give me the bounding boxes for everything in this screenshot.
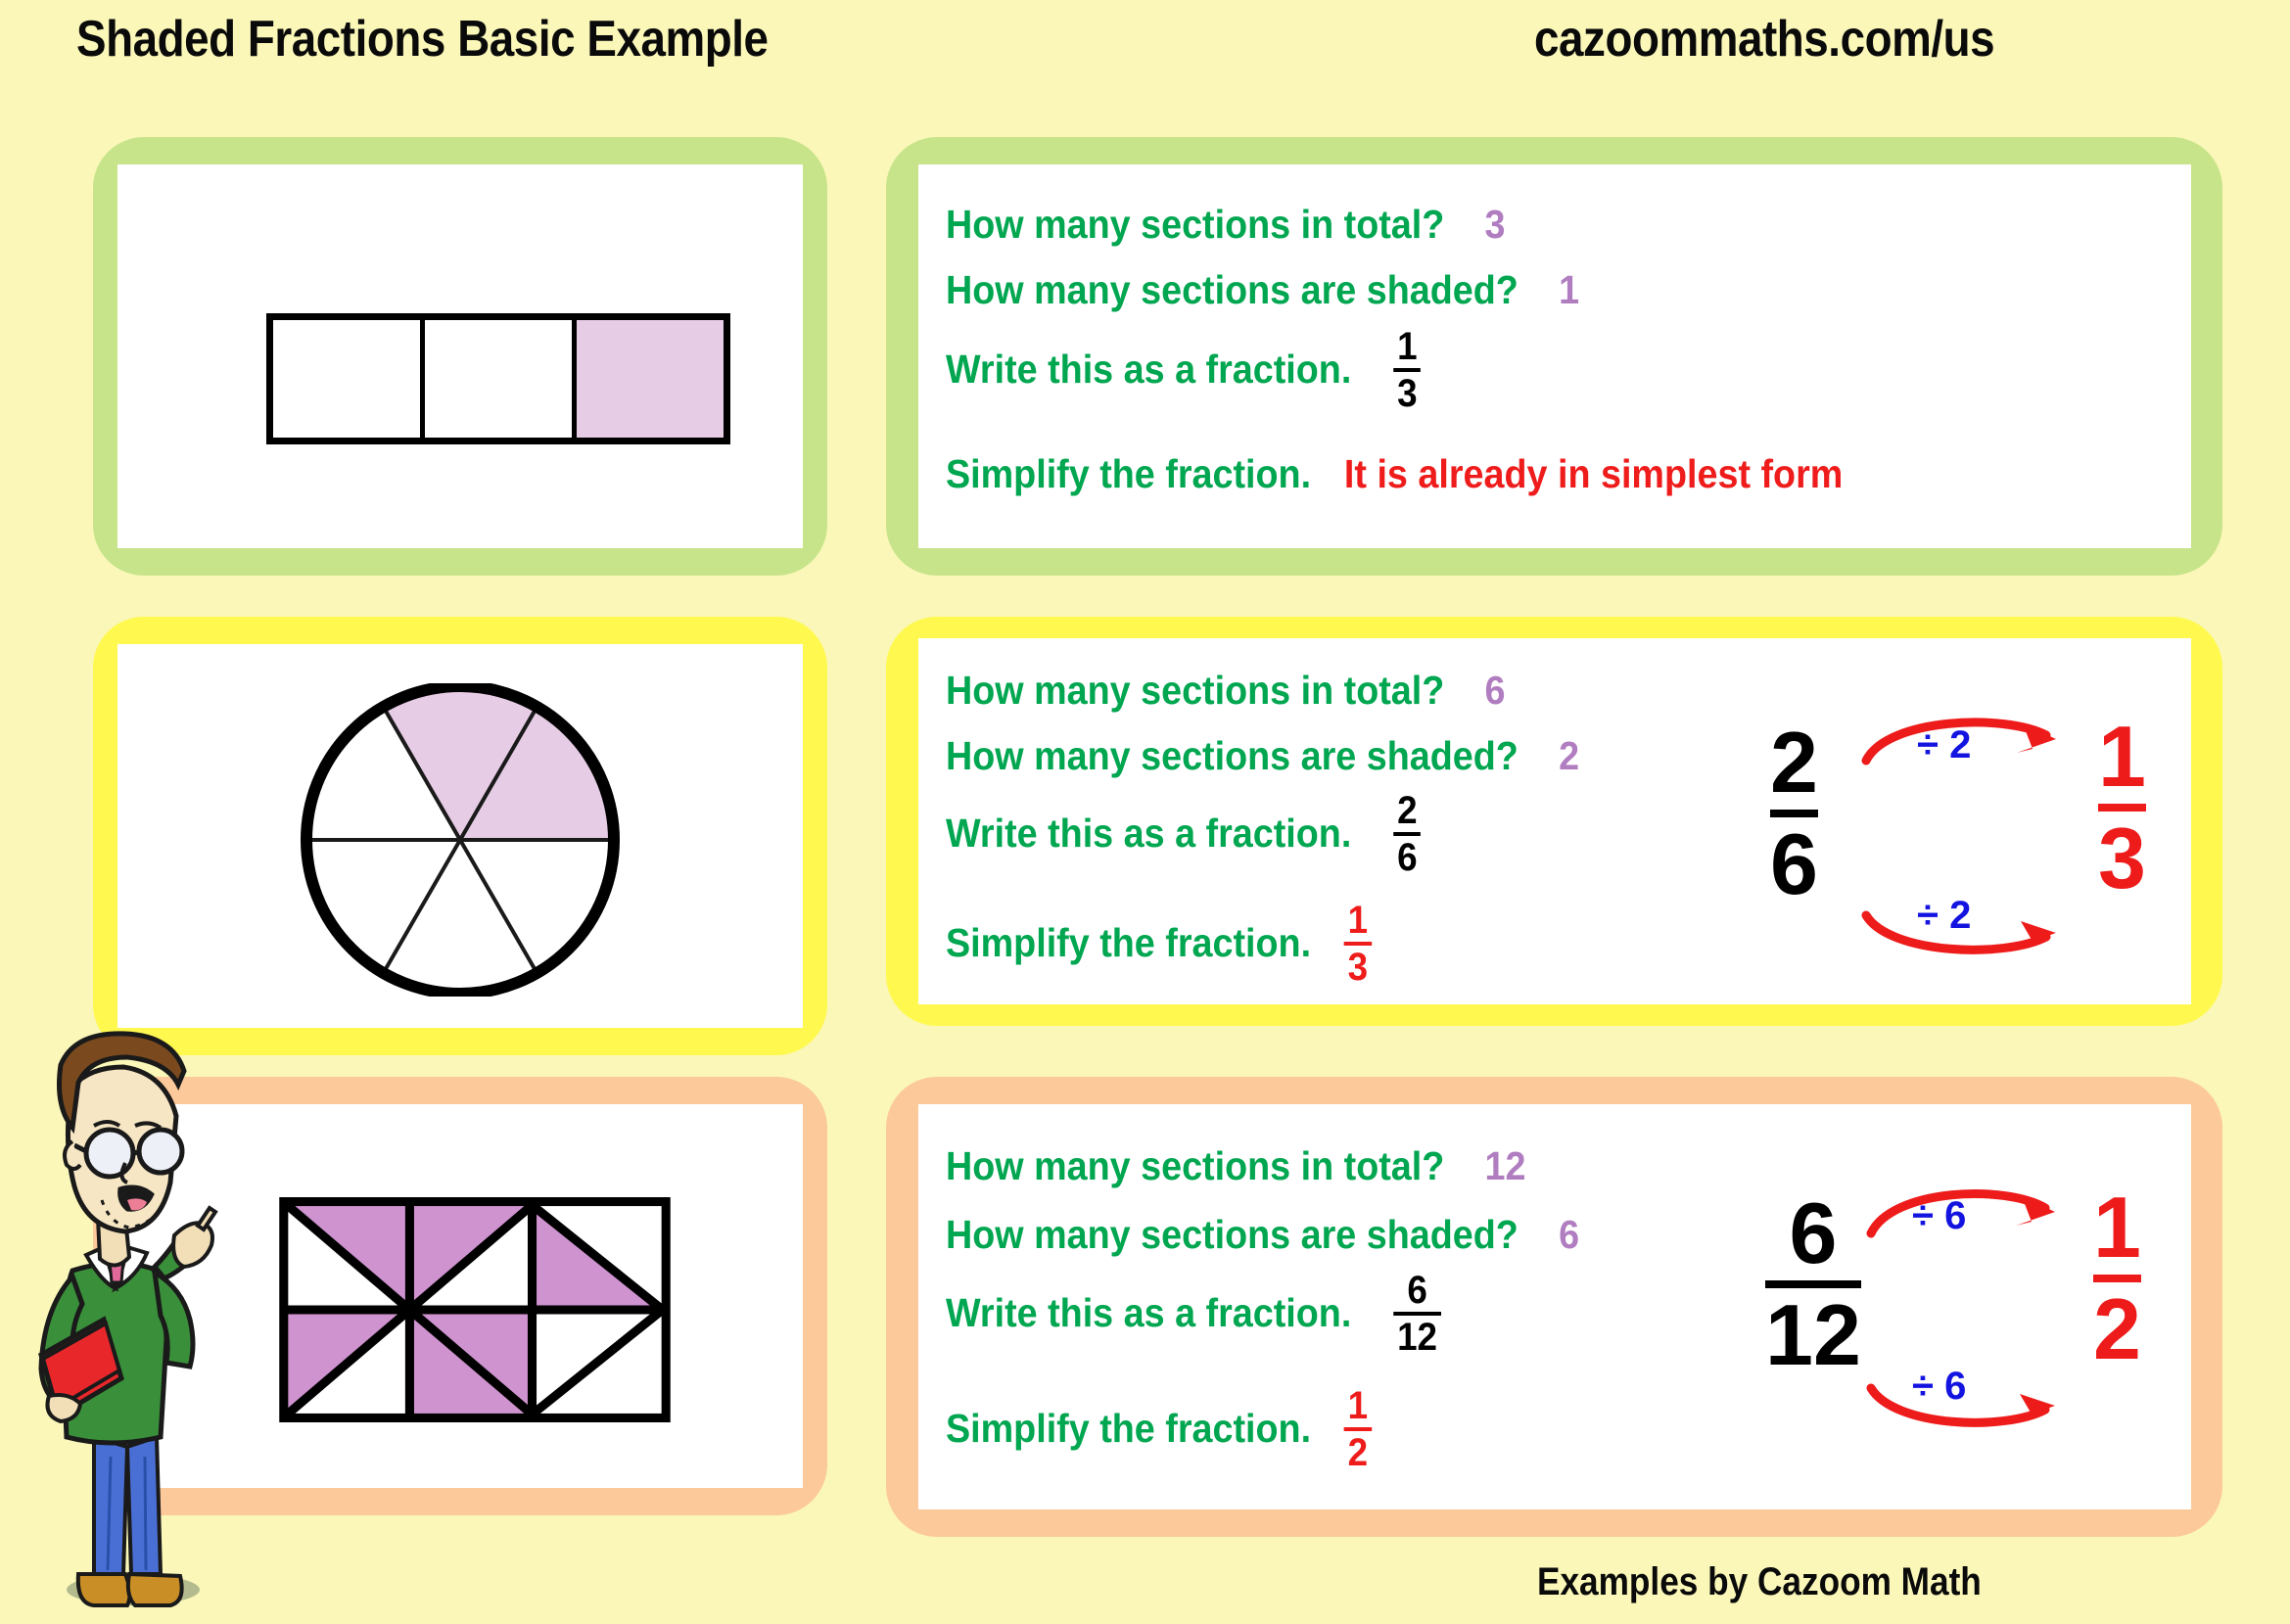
example-1-simplify-line: Simplify the fraction. It is already in … — [946, 451, 1843, 497]
question-label-simplify: Simplify the fraction. — [946, 920, 1311, 965]
example-3-original-fraction: 6 12 — [1765, 1192, 1861, 1375]
question-label-simplify: Simplify the fraction. — [946, 451, 1311, 496]
example-2-shape-panel — [117, 644, 803, 1028]
shaded-grid-diagram — [279, 1197, 671, 1422]
example-2-divide-top-label: ÷ 2 — [1917, 723, 1971, 767]
example-3-total-line: How many sections in total? 12 — [946, 1143, 1525, 1189]
example-2-shaded-line: How many sections are shaded? 2 — [946, 733, 1579, 779]
bar-section-2 — [425, 320, 577, 438]
fraction-numerator: 2 — [1770, 721, 1818, 804]
example-3-total-answer: 12 — [1485, 1143, 1526, 1188]
fraction-numerator: 2 — [1393, 791, 1421, 830]
example-1-total-answer: 3 — [1485, 202, 1506, 247]
example-3-divide-top-label: ÷ 6 — [1912, 1194, 1966, 1238]
teacher-character-illustration — [18, 1026, 262, 1619]
example-2-fraction: 2 6 — [1393, 791, 1421, 877]
question-label-total: How many sections in total? — [946, 202, 1444, 247]
shaded-bar-diagram — [266, 313, 730, 444]
page-header: Shaded Fractions Basic Example cazoommat… — [0, 0, 2290, 88]
footer-credit: Examples by Cazoom Math — [1537, 1560, 1982, 1604]
question-label-shaded: How many sections are shaded? — [946, 267, 1519, 312]
fraction-denominator: 3 — [1344, 948, 1372, 987]
bar-section-3-shaded — [577, 320, 724, 438]
example-1-total-line: How many sections in total? 3 — [946, 202, 1506, 248]
example-3-text-panel: How many sections in total? 12 How many … — [918, 1104, 2191, 1509]
example-3-simplify-line: Simplify the fraction. 1 2 — [946, 1388, 1372, 1474]
example-3-text-card: How many sections in total? 12 How many … — [886, 1077, 2222, 1537]
example-2-simplified-fraction: 1 3 — [1344, 901, 1372, 987]
example-2-shaded-answer: 2 — [1559, 733, 1579, 778]
example-3-simplify-diagram: 6 12 ÷ 6 ÷ 6 1 2 — [1755, 1163, 2147, 1437]
question-label-fraction: Write this as a fraction. — [946, 347, 1351, 392]
question-label-simplify: Simplify the fraction. — [946, 1406, 1311, 1451]
fraction-denominator: 2 — [1344, 1433, 1372, 1472]
example-2-shape-card — [93, 617, 827, 1055]
question-label-fraction: Write this as a fraction. — [946, 1290, 1351, 1335]
fraction-denominator: 6 — [1393, 838, 1421, 877]
example-3-shaded-answer: 6 — [1559, 1212, 1579, 1257]
fraction-numerator: 1 — [2093, 1186, 2141, 1269]
example-1-text-card: How many sections in total? 3 How many s… — [886, 137, 2222, 576]
example-1-shaded-answer: 1 — [1559, 267, 1579, 312]
fraction-denominator: 12 — [1393, 1318, 1440, 1357]
example-2-simplify-line: Simplify the fraction. 1 3 — [946, 903, 1372, 989]
example-2-total-line: How many sections in total? 6 — [946, 668, 1506, 714]
example-2-original-fraction: 2 6 — [1770, 721, 1818, 905]
fraction-denominator: 2 — [2093, 1288, 2141, 1370]
example-3-result-fraction: 1 2 — [2093, 1186, 2141, 1369]
example-2-result-fraction: 1 3 — [2098, 716, 2146, 899]
fraction-denominator: 3 — [2098, 817, 2146, 900]
fraction-numerator: 6 — [1393, 1271, 1440, 1310]
fraction-numerator: 1 — [1344, 901, 1372, 940]
question-label-total: How many sections in total? — [946, 1143, 1444, 1188]
example-3-divide-bottom-label: ÷ 6 — [1912, 1365, 1966, 1409]
example-3-shaded-line: How many sections are shaded? 6 — [946, 1212, 1579, 1258]
question-label-shaded: How many sections are shaded? — [946, 1212, 1519, 1257]
example-2-total-answer: 6 — [1485, 668, 1506, 713]
example-2-text-panel: How many sections in total? 6 How many s… — [918, 638, 2191, 1004]
example-3-fraction-line: Write this as a fraction. 6 12 — [946, 1273, 1441, 1359]
page-title: Shaded Fractions Basic Example — [76, 10, 769, 69]
example-1-simplest-form-note: It is already in simplest form — [1344, 451, 1843, 496]
example-1-fraction-line: Write this as a fraction. 1 3 — [946, 329, 1421, 415]
fraction-denominator: 12 — [1765, 1294, 1861, 1376]
example-3-fraction: 6 12 — [1393, 1271, 1440, 1357]
example-2-simplify-diagram: 2 6 ÷ 2 ÷ 2 1 3 — [1760, 692, 2152, 966]
example-1-shape-panel — [117, 164, 803, 548]
shaded-pie-diagram — [299, 683, 622, 997]
fraction-numerator: 1 — [1344, 1386, 1372, 1425]
fraction-numerator: 1 — [1393, 327, 1421, 366]
fraction-numerator: 6 — [1765, 1192, 1861, 1275]
fraction-denominator: 6 — [1770, 823, 1818, 905]
question-label-total: How many sections in total? — [946, 668, 1444, 713]
example-1-shape-card — [93, 137, 827, 576]
example-1-shaded-line: How many sections are shaded? 1 — [946, 267, 1579, 313]
question-label-fraction: Write this as a fraction. — [946, 811, 1351, 856]
example-2-divide-bottom-label: ÷ 2 — [1917, 894, 1971, 938]
fraction-numerator: 1 — [2098, 716, 2146, 798]
example-1-text-panel: How many sections in total? 3 How many s… — [918, 164, 2191, 548]
question-label-shaded: How many sections are shaded? — [946, 733, 1519, 778]
example-2-text-card: How many sections in total? 6 How many s… — [886, 617, 2222, 1026]
example-1-fraction: 1 3 — [1393, 327, 1421, 413]
example-2-fraction-line: Write this as a fraction. 2 6 — [946, 793, 1421, 879]
bar-section-1 — [273, 320, 425, 438]
site-url: cazoommaths.com/us — [1534, 10, 1994, 69]
example-3-simplified-fraction: 1 2 — [1344, 1386, 1372, 1472]
fraction-denominator: 3 — [1393, 374, 1421, 413]
